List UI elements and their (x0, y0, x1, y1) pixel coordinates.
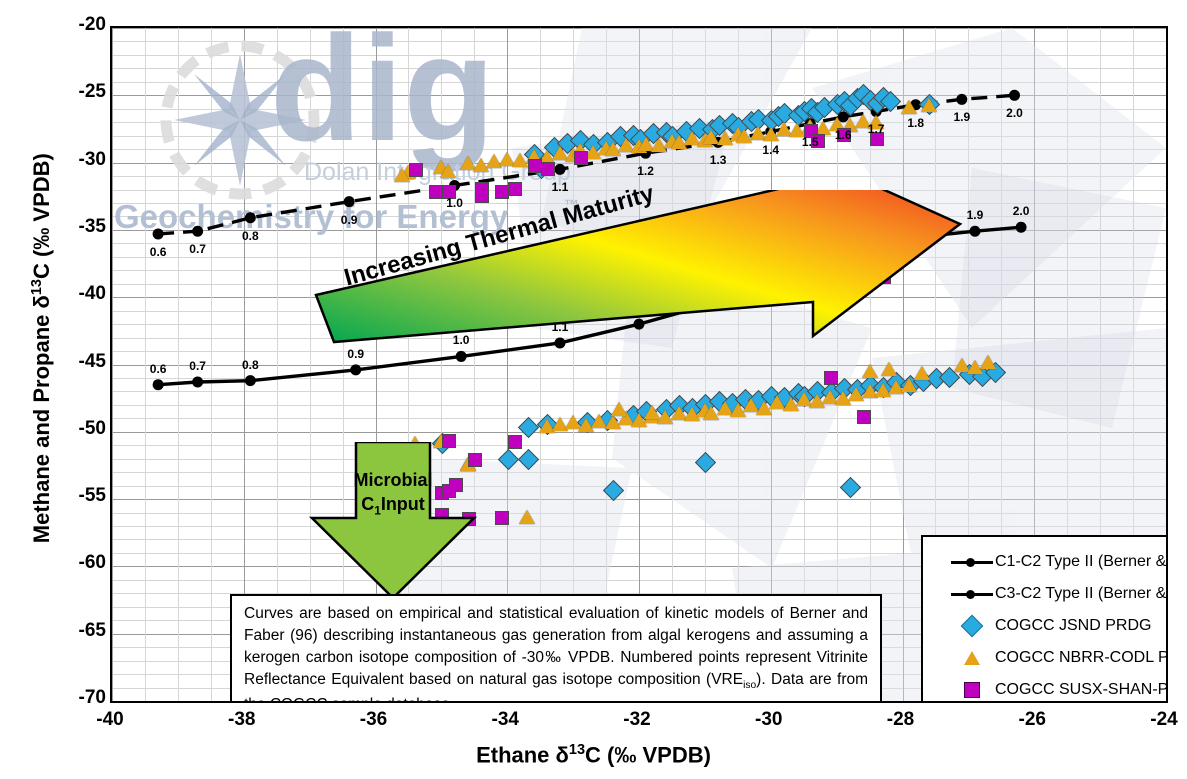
plot-area: dig Dolan Integration Group Geochemistry… (110, 26, 1168, 703)
x-tick-label: -28 (866, 709, 936, 731)
x-tick-label: -34 (470, 709, 540, 731)
description-subscript: iso (743, 680, 756, 691)
vre-label: 2.0 (1013, 204, 1030, 218)
x-tick-label: -38 (207, 709, 277, 731)
microbial-line-3: Input (381, 494, 425, 514)
vre-label: 1.8 (907, 116, 924, 130)
x-axis-title: Ethane δ13C (‰ VPDB) (0, 742, 1187, 768)
y-tick-label: -30 (50, 149, 106, 171)
y-tick-label: -65 (50, 620, 106, 642)
legend-label: C1-C2 Type II (Berner & Faber 96) (995, 553, 1168, 571)
vre-label: 1.9 (953, 110, 970, 124)
x-axis-title-sup: 13 (569, 742, 585, 758)
x-tick-label: -36 (339, 709, 409, 731)
x-tick-label: -30 (734, 709, 804, 731)
legend-item-susx-shan-pkmn[interactable]: COGCC SUSX-SHAN-PKMN PRDG (923, 674, 1168, 703)
x-tick-label: -40 (75, 709, 145, 731)
microbial-line-2: C (361, 494, 374, 514)
y-tick-label: -35 (50, 216, 106, 238)
y-tick-label: -20 (50, 14, 106, 36)
vre-label: 1.9 (967, 208, 984, 222)
y-tick-label: -60 (50, 552, 106, 574)
y-axis-title-pre: Methane and Propane δ (29, 295, 54, 543)
vre-label: 1.3 (710, 153, 727, 167)
y-tick-label: -55 (50, 485, 106, 507)
square-marker-icon (949, 682, 995, 698)
microbial-input-arrow (308, 442, 478, 602)
microbial-line-1: Microbial (353, 470, 432, 490)
y-tick-label: -40 (50, 283, 106, 305)
x-tick-label: -24 (1129, 709, 1187, 731)
vre-label: 0.7 (189, 242, 206, 256)
line-marker-icon (949, 556, 995, 568)
vre-label: 2.0 (1006, 106, 1023, 120)
line-marker-icon (949, 588, 995, 600)
vre-label: 0.8 (242, 229, 259, 243)
x-tick-label: -32 (602, 709, 672, 731)
x-axis-title-pre: Ethane δ (476, 742, 569, 767)
legend-item-jsnd[interactable]: COGCC JSND PRDG (923, 610, 1168, 642)
legend-item-nbrr-codl[interactable]: COGCC NBRR-CODL PRDG (923, 642, 1168, 674)
legend-item-c3c2[interactable]: C3-C2 Type II (Berner & Faber 96) (923, 578, 1168, 610)
vre-label: 0.8 (242, 358, 259, 372)
y-axis-title-sup: 13 (29, 279, 45, 295)
gridline-h (112, 701, 1166, 702)
legend-label: COGCC SUSX-SHAN-PKMN PRDG (995, 681, 1168, 699)
legend-label: C3-C2 Type II (Berner & Faber 96) (995, 585, 1168, 603)
legend-item-c1c2[interactable]: C1-C2 Type II (Berner & Faber 96) (923, 546, 1168, 578)
vre-label: 1.5 (802, 135, 819, 149)
description-box: Curves are based on empirical and statis… (230, 594, 882, 703)
x-tick-label: -26 (997, 709, 1067, 731)
vre-label: 1.7 (868, 122, 885, 136)
vre-label: 1.6 (835, 128, 852, 142)
y-tick-label: -45 (50, 351, 106, 373)
vre-label: 0.7 (189, 359, 206, 373)
x-axis-ticks: -40-38-36-34-32-30-28-26-24 (0, 709, 1187, 739)
y-axis-title-post: C (‰ VPDB) (29, 153, 54, 279)
microbial-subscript: 1 (374, 504, 381, 518)
legend-label: COGCC JSND PRDG (995, 617, 1151, 635)
y-tick-label: -70 (50, 687, 106, 709)
y-tick-label: -50 (50, 418, 106, 440)
legend: C1-C2 Type II (Berner & Faber 96) C3-C2 … (921, 535, 1168, 703)
y-axis-title: Methane and Propane δ13C (‰ VPDB) (29, 38, 55, 658)
triangle-marker-icon (949, 651, 995, 665)
vre-label: 1.2 (637, 164, 654, 178)
vre-label: 0.6 (150, 362, 167, 376)
legend-label: COGCC NBRR-CODL PRDG (995, 649, 1168, 667)
vre-label: 0.6 (150, 245, 167, 259)
y-tick-label: -25 (50, 81, 106, 103)
vre-label: 1.4 (762, 143, 779, 157)
gridline-v (1166, 28, 1167, 701)
microbial-arrow-label: Microbial C1Input (308, 468, 478, 519)
chart-root: dig Dolan Integration Group Geochemistry… (0, 0, 1187, 779)
diamond-marker-icon (949, 618, 995, 634)
x-axis-title-post: C (‰ VPDB) (585, 742, 711, 767)
